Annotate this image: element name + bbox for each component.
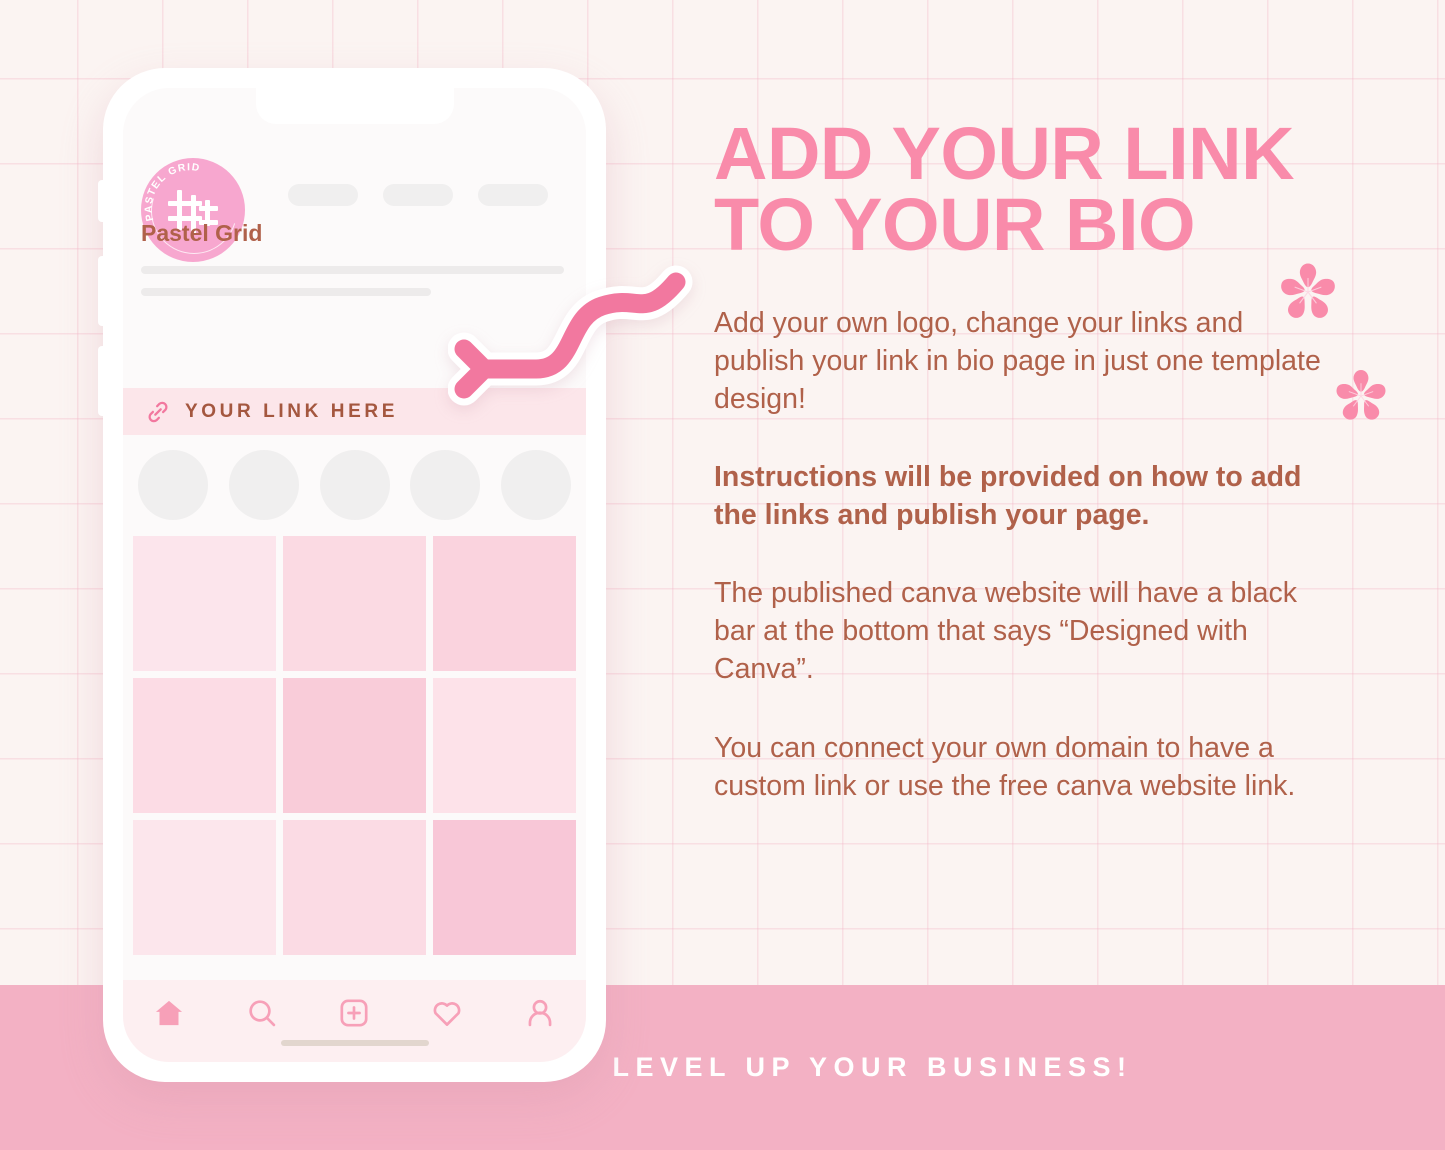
home-icon[interactable]	[152, 996, 186, 1030]
photo-tile[interactable]	[133, 536, 276, 671]
link-chain-icon	[145, 399, 171, 425]
phone-screen: PASTEL GRID	[123, 88, 586, 1062]
photo-tile[interactable]	[133, 820, 276, 955]
phone-notch	[256, 88, 454, 124]
photo-tile[interactable]	[433, 820, 576, 955]
bottom-navigation-bar	[123, 980, 586, 1062]
story-highlight[interactable]	[320, 450, 390, 520]
photo-tile[interactable]	[283, 536, 426, 671]
phone-mockup: PASTEL GRID	[103, 68, 606, 1082]
story-highlight[interactable]	[138, 450, 208, 520]
phone-volume-down-button[interactable]	[98, 346, 105, 416]
banner-tagline: LEVEL UP YOUR BUSINESS!	[612, 1052, 1132, 1083]
headline-line-1: ADD YOUR LINK	[714, 118, 1334, 189]
profile-name: Pastel Grid	[141, 220, 262, 247]
photo-tile[interactable]	[283, 820, 426, 955]
home-indicator	[281, 1040, 429, 1046]
curved-arrow-icon	[448, 258, 700, 423]
add-post-icon[interactable]	[337, 996, 371, 1030]
story-highlight[interactable]	[410, 450, 480, 520]
page-title: ADD YOUR LINK TO YOUR BIO	[714, 0, 1334, 260]
story-highlight[interactable]	[229, 450, 299, 520]
profile-icon[interactable]	[523, 996, 557, 1030]
photo-tile[interactable]	[283, 678, 426, 813]
bio-placeholder-line	[141, 288, 431, 296]
photo-tile[interactable]	[133, 678, 276, 813]
paragraph-instructions: Instructions will be provided on how to …	[714, 419, 1334, 534]
story-highlight[interactable]	[501, 450, 571, 520]
headline-line-2: TO YOUR BIO	[714, 189, 1334, 260]
photo-grid	[133, 536, 576, 955]
photo-tile[interactable]	[433, 536, 576, 671]
heart-icon[interactable]	[430, 996, 464, 1030]
profile-stat-placeholder	[383, 184, 453, 206]
content-column: ADD YOUR LINK TO YOUR BIO Add your own l…	[714, 0, 1334, 805]
cherry-blossom-icon	[1330, 365, 1392, 427]
profile-stat-placeholder	[288, 184, 358, 206]
paragraph-canva-note: The published canva website will have a …	[714, 534, 1334, 689]
story-highlights-row	[123, 450, 586, 528]
photo-tile[interactable]	[433, 678, 576, 813]
link-bar-label: YOUR LINK HERE	[185, 401, 398, 423]
phone-mute-button[interactable]	[98, 180, 105, 222]
search-icon[interactable]	[245, 996, 279, 1030]
phone-volume-up-button[interactable]	[98, 256, 105, 326]
paragraph-intro: Add your own logo, change your links and…	[714, 260, 1334, 419]
paragraph-domain-note: You can connect your own domain to have …	[714, 689, 1334, 805]
profile-stat-placeholder	[478, 184, 548, 206]
